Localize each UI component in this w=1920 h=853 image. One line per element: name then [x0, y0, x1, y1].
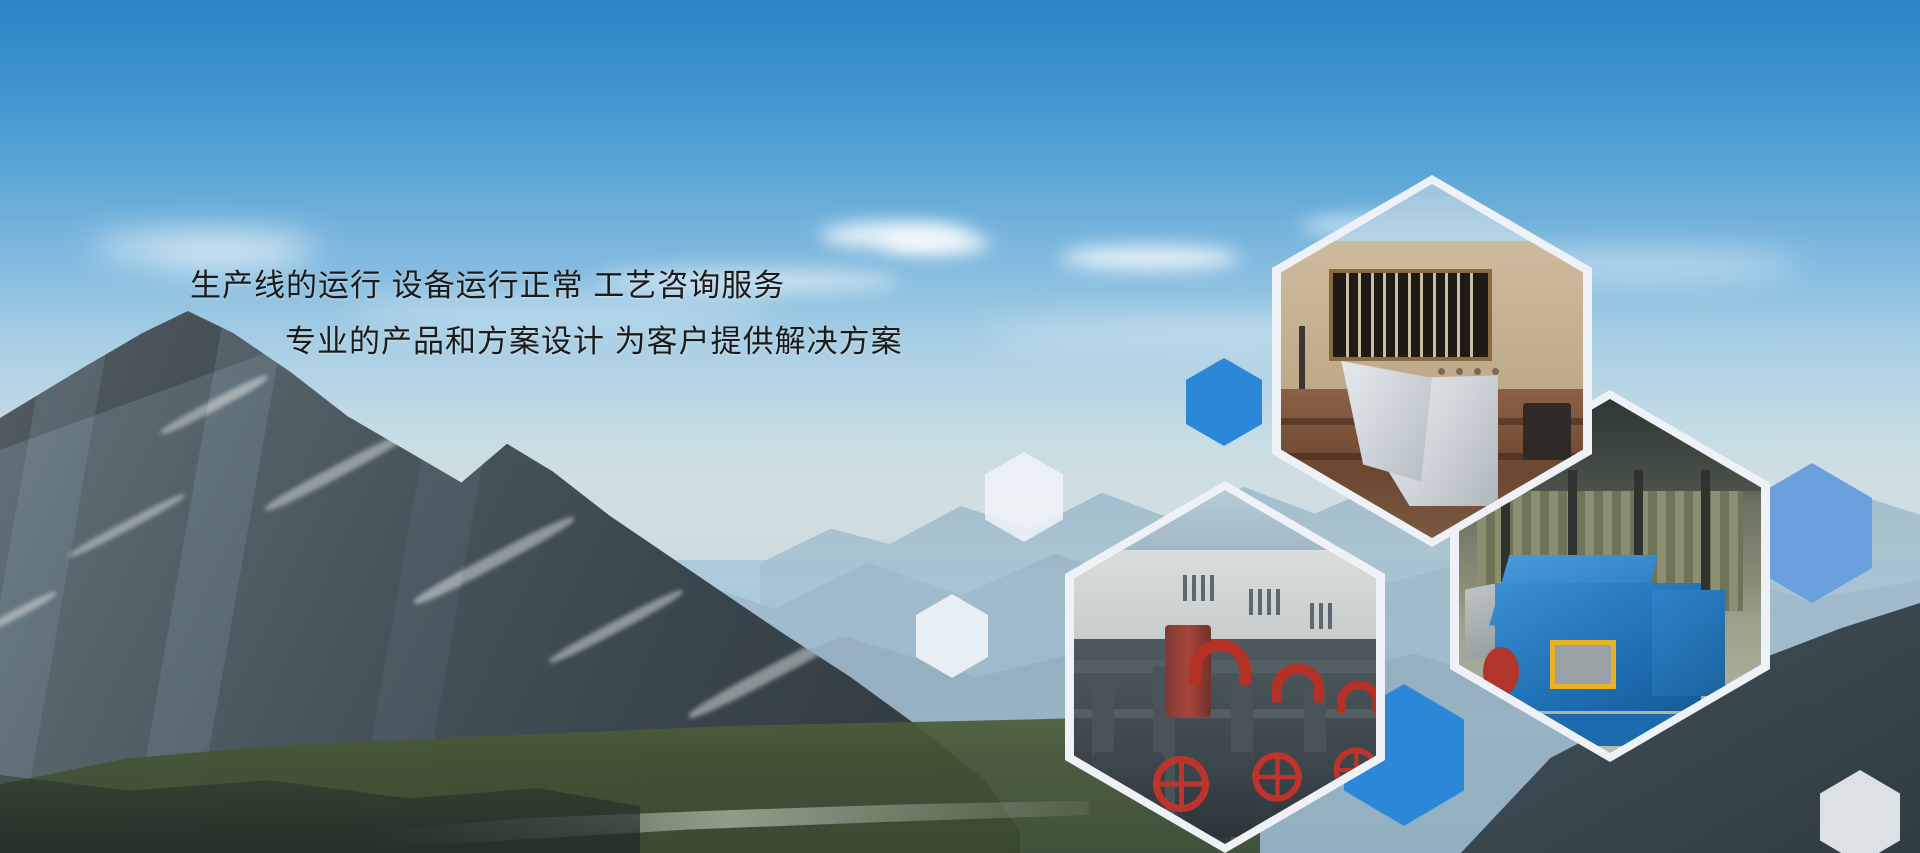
photo-grey-machinery	[1074, 490, 1376, 844]
headline-line-1: 生产线的运行 设备运行正常 工艺咨询服务	[0, 258, 1040, 314]
banner-headline: 生产线的运行 设备运行正常 工艺咨询服务 专业的产品和方案设计 为客户提供解决方…	[0, 258, 1040, 370]
photo-cone-crusher	[1281, 184, 1583, 538]
headline-line-2: 专业的产品和方案设计 为客户提供解决方案	[0, 314, 1040, 370]
window-grille	[1329, 269, 1492, 361]
hero-banner: 生产线的运行 设备运行正常 工艺咨询服务 专业的产品和方案设计 为客户提供解决方…	[0, 0, 1920, 853]
